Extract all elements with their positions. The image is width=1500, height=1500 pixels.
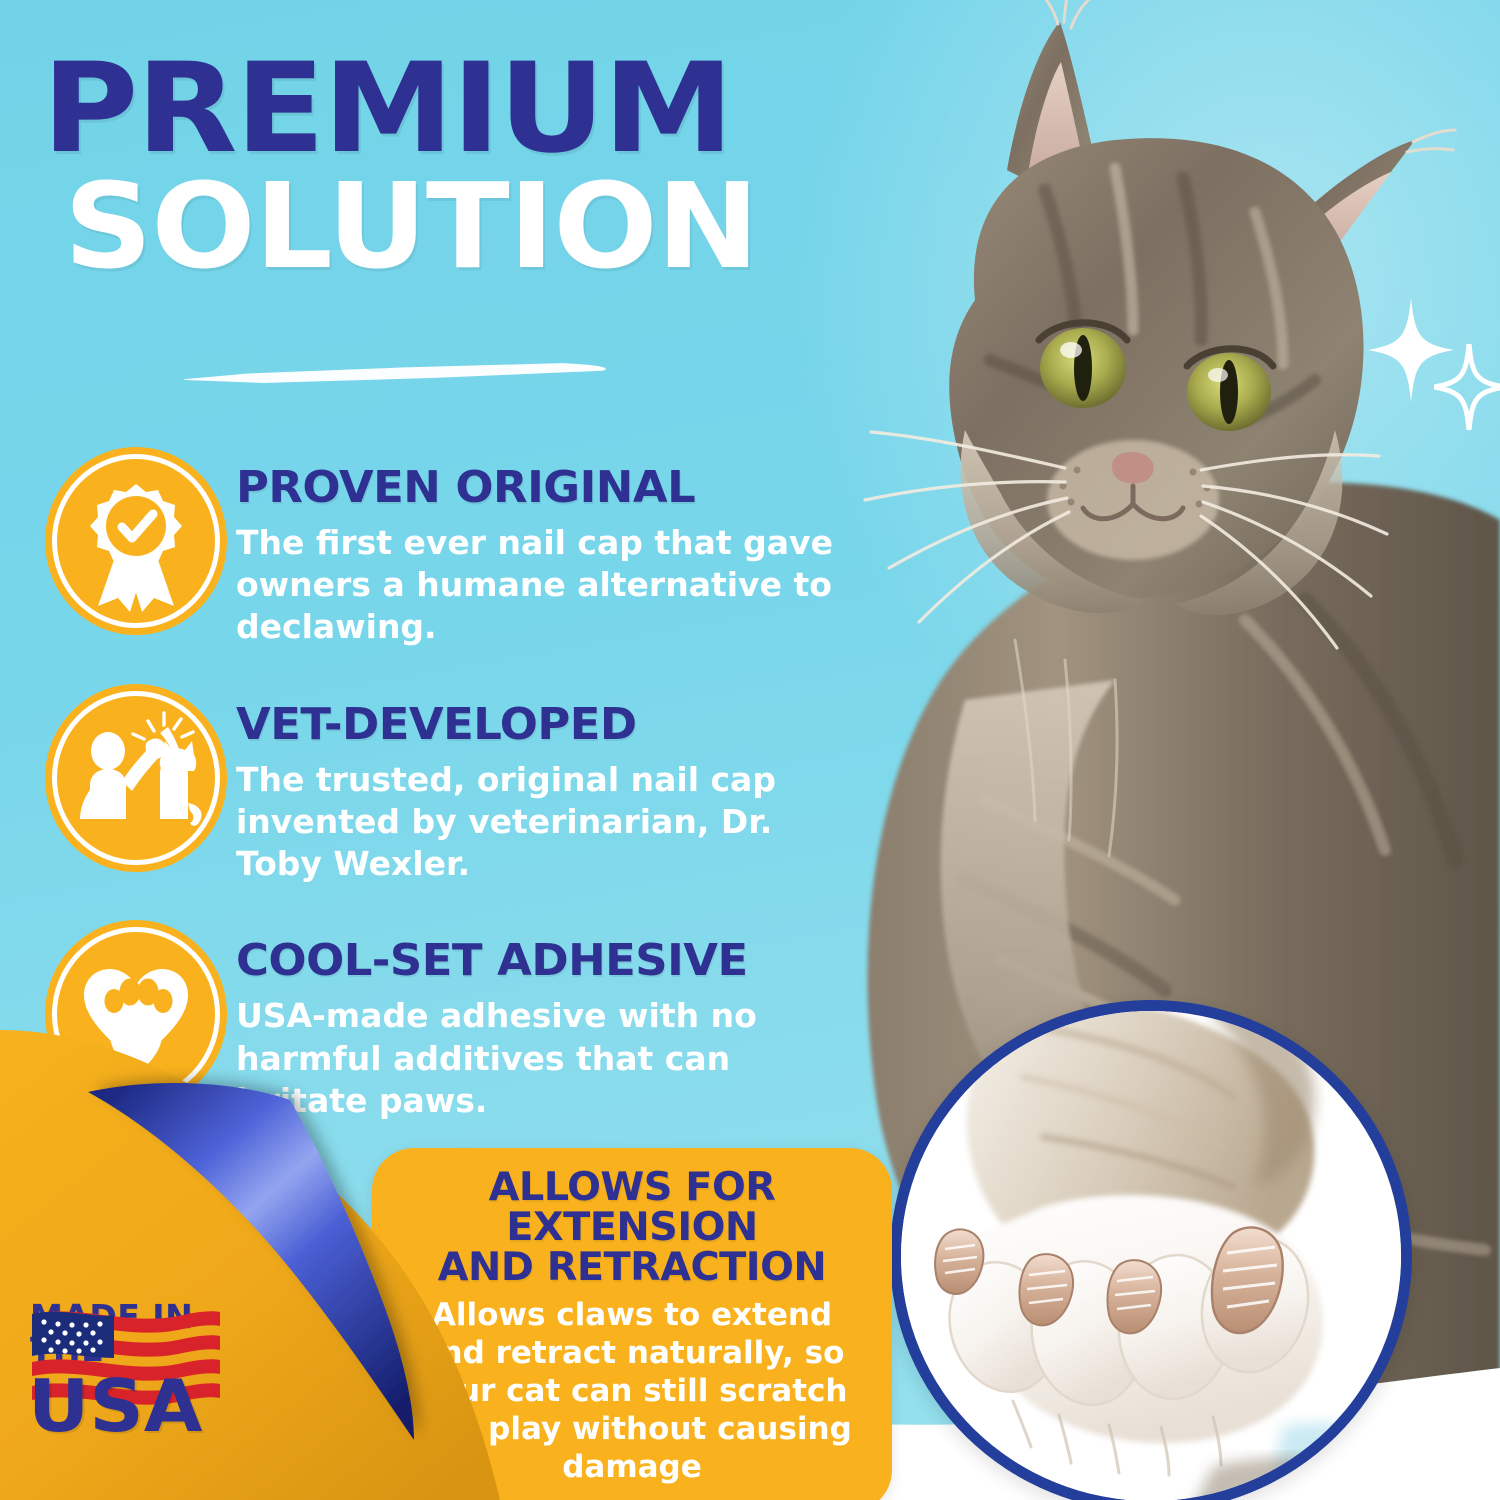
page-curl-corner: MADE IN THE USA	[0, 1030, 560, 1500]
feature-item: PROVEN ORIGINAL The first ever nail cap …	[58, 462, 858, 649]
headline-line-2: SOLUTION	[64, 170, 915, 282]
vet-high-five-cat-icon	[58, 699, 214, 857]
usa-label: USA	[28, 1370, 291, 1442]
sparkle-star-outline-icon	[1434, 344, 1500, 430]
headline-line-1: PREMIUM	[42, 52, 932, 166]
feature-item: VET-DEVELOPED The trusted, original nail…	[58, 699, 858, 886]
white-swoosh-divider	[178, 358, 606, 388]
feature-body: The first ever nail cap that gave owners…	[236, 522, 846, 649]
product-infographic: PREMIUM SOLUTION PROVEN ORIGINAL	[0, 0, 1500, 1500]
made-in-usa-badge: MADE IN THE USA	[28, 1300, 278, 1442]
headline-block: PREMIUM SOLUTION	[42, 52, 882, 282]
award-ribbon-check-icon	[58, 462, 214, 620]
feature-title: COOL-SET ADHESIVE	[236, 939, 870, 983]
feature-title: PROVEN ORIGINAL	[236, 466, 870, 510]
feature-body: The trusted, original nail cap invented …	[236, 759, 846, 886]
feature-title: VET-DEVELOPED	[236, 703, 870, 747]
paw-closeup-inset	[890, 1000, 1412, 1500]
